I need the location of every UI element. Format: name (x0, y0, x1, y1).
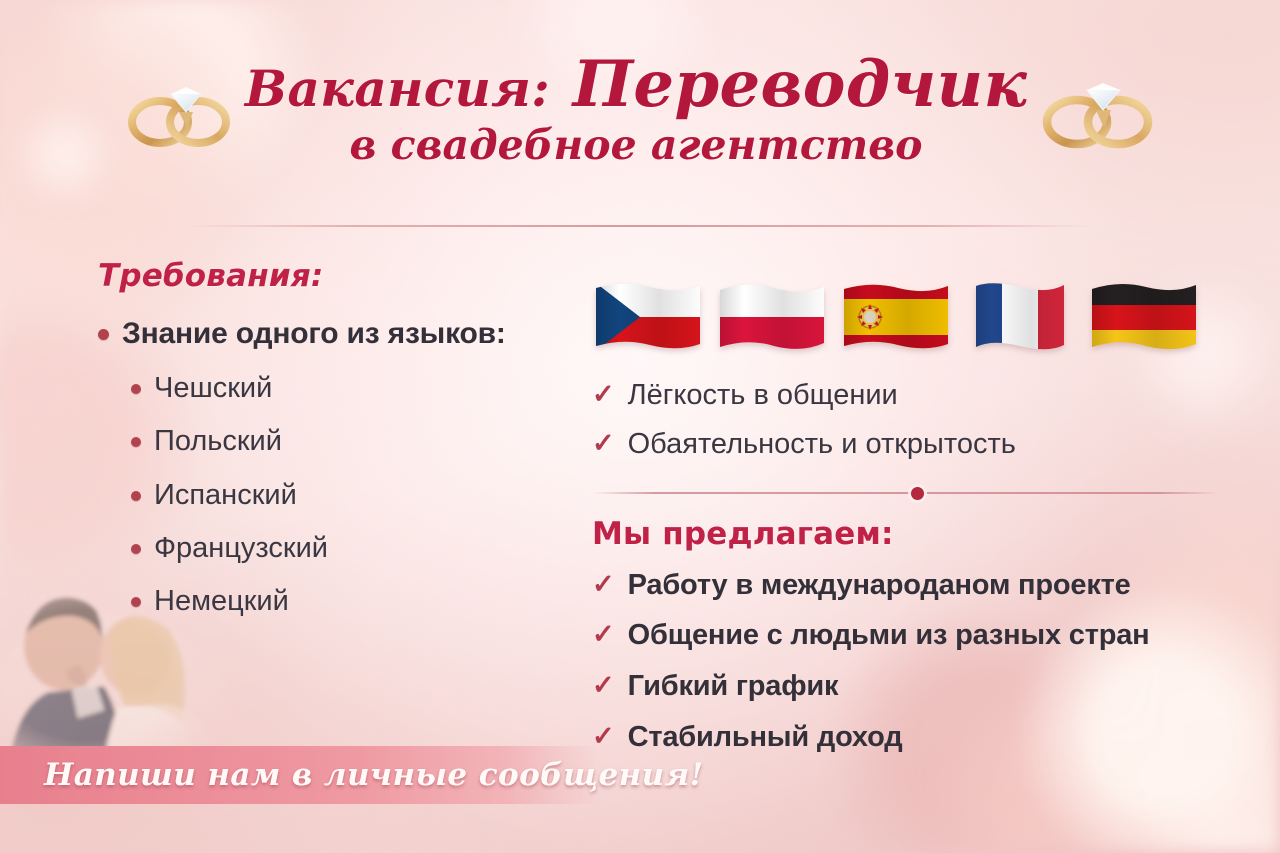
germany-flag-icon (1088, 280, 1200, 354)
requirements-heading: Требования: (98, 258, 568, 294)
flag-row (592, 280, 1242, 362)
title-text-group: Вакансия: Переводчик в свадебное агентст… (245, 52, 1027, 169)
poster: Вакансия: Переводчик в свадебное агентст… (0, 0, 1280, 853)
cta-label: Напиши нам в личные сообщения! (0, 757, 704, 793)
divider-dot-icon (911, 487, 924, 500)
list-item: ✓ Обаятельность и открытость (592, 427, 1242, 462)
list-item: Чешский (131, 370, 568, 406)
list-item: ✓ Гибкий график (592, 669, 1242, 704)
bullet-dot-icon (131, 491, 141, 501)
cta-ribbon[interactable]: Напиши нам в личные сообщения! (0, 746, 600, 804)
page-title: Вакансия: Переводчик (245, 52, 1027, 117)
poland-flag-icon (716, 280, 828, 354)
offer-heading: Мы предлагаем: (592, 516, 1242, 552)
section-divider (592, 486, 1242, 500)
bullet-dot-icon (131, 437, 141, 447)
list-item: Знание одного из языков: (98, 314, 568, 353)
header-divider (188, 225, 1092, 227)
check-icon: ✓ (592, 571, 615, 598)
poster-header: Вакансия: Переводчик в свадебное агентст… (0, 52, 1280, 169)
language-list: Чешский Польский Испанский Французский Н… (131, 370, 568, 619)
wedding-rings-icon (127, 72, 231, 150)
title-highlight: Переводчик (573, 47, 1027, 122)
offer-label: Работу в международаном проекте (628, 568, 1131, 603)
bullet-dot-icon (131, 544, 141, 554)
list-item: Французский (131, 530, 568, 566)
offer-label: Общение с людьми из разных стран (628, 618, 1150, 653)
list-item: Немецкий (131, 583, 568, 619)
offer-label: Стабильный доход (628, 720, 903, 755)
check-icon: ✓ (592, 430, 615, 457)
list-item: ✓ Общение с людьми из разных стран (592, 618, 1242, 653)
list-item: Испанский (131, 477, 568, 513)
list-item: ✓ Работу в международаном проекте (592, 568, 1242, 603)
soft-skill-label: Обаятельность и открытость (628, 427, 1016, 462)
france-flag-icon (964, 280, 1076, 354)
bullet-dot-icon (131, 597, 141, 607)
offer-list: ✓ Работу в международаном проекте ✓ Обще… (592, 568, 1242, 755)
bokeh-dot (0, 330, 100, 450)
title-row: Вакансия: Переводчик в свадебное агентст… (0, 52, 1280, 169)
offer-label: Гибкий график (628, 669, 839, 704)
spain-flag-icon (840, 280, 952, 354)
czech-republic-flag-icon (592, 280, 704, 354)
language-label: Немецкий (154, 583, 289, 619)
title-prefix: Вакансия: (245, 59, 550, 118)
list-item: ✓ Лёгкость в общении (592, 378, 1242, 413)
soft-skills-list: ✓ Лёгкость в общении ✓ Обаятельность и о… (592, 378, 1242, 462)
language-label: Польский (154, 423, 282, 459)
wedding-rings-icon (1041, 70, 1153, 152)
offer-section: ✓ Лёгкость в общении ✓ Обаятельность и о… (592, 280, 1242, 755)
bullet-dot-icon (131, 384, 141, 394)
divider-rule (592, 492, 1220, 494)
check-icon: ✓ (592, 672, 615, 699)
language-label: Испанский (154, 477, 297, 513)
bullet-dot-icon (98, 329, 109, 340)
requirements-section: Требования: Знание одного из языков: Чеш… (98, 258, 568, 619)
page-subtitle: в свадебное агентство (245, 121, 1027, 169)
soft-skill-label: Лёгкость в общении (628, 378, 898, 413)
list-item: ✓ Стабильный доход (592, 720, 1242, 755)
language-label: Чешский (154, 370, 272, 406)
requirements-main-item: Знание одного из языков: (122, 314, 506, 353)
language-label: Французский (154, 530, 328, 566)
check-icon: ✓ (592, 381, 615, 408)
list-item: Польский (131, 423, 568, 459)
check-icon: ✓ (592, 621, 615, 648)
